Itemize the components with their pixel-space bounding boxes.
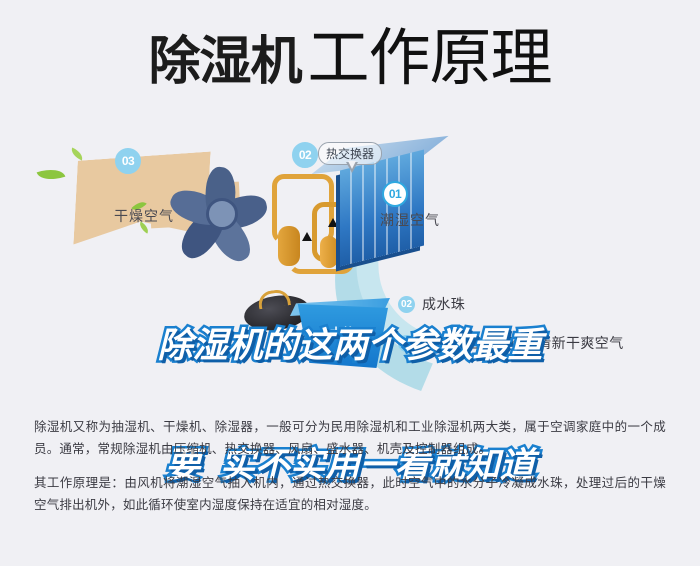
dry-air-label: 干燥空气	[114, 206, 174, 226]
headline-line-1: 除湿机的这两个参数最重	[0, 326, 700, 366]
headline-overlay: 除湿机的这两个参数最重 要 实不实用一看就知道	[0, 246, 700, 566]
article-body: 除湿机又称为抽湿机、干燥机、除湿器，一般可分为民用除湿机和工业除湿机两大类，属于…	[34, 416, 666, 516]
page-root: 除湿机工作原理	[0, 0, 700, 566]
badge-01: 01	[382, 181, 408, 207]
page-title-subject: 除湿机	[148, 33, 301, 91]
page-title-topic: 工作原理	[308, 24, 552, 93]
humid-air-label: 潮湿空气	[380, 210, 440, 230]
leaf-icon	[37, 164, 66, 184]
article-paragraph-2: 其工作原理是：由风机将潮湿空气抽入机内，通过热交换器，此时空气中的水分子冷凝成水…	[34, 472, 666, 516]
page-title: 除湿机工作原理	[0, 28, 700, 90]
callout-pointer-icon	[346, 162, 358, 173]
badge-02: 02	[292, 142, 318, 168]
leaf-icon	[69, 147, 85, 160]
article-paragraph-1: 除湿机又称为抽湿机、干燥机、除湿器，一般可分为民用除湿机和工业除湿机两大类，属于…	[34, 416, 666, 460]
badge-03: 03	[115, 148, 141, 174]
